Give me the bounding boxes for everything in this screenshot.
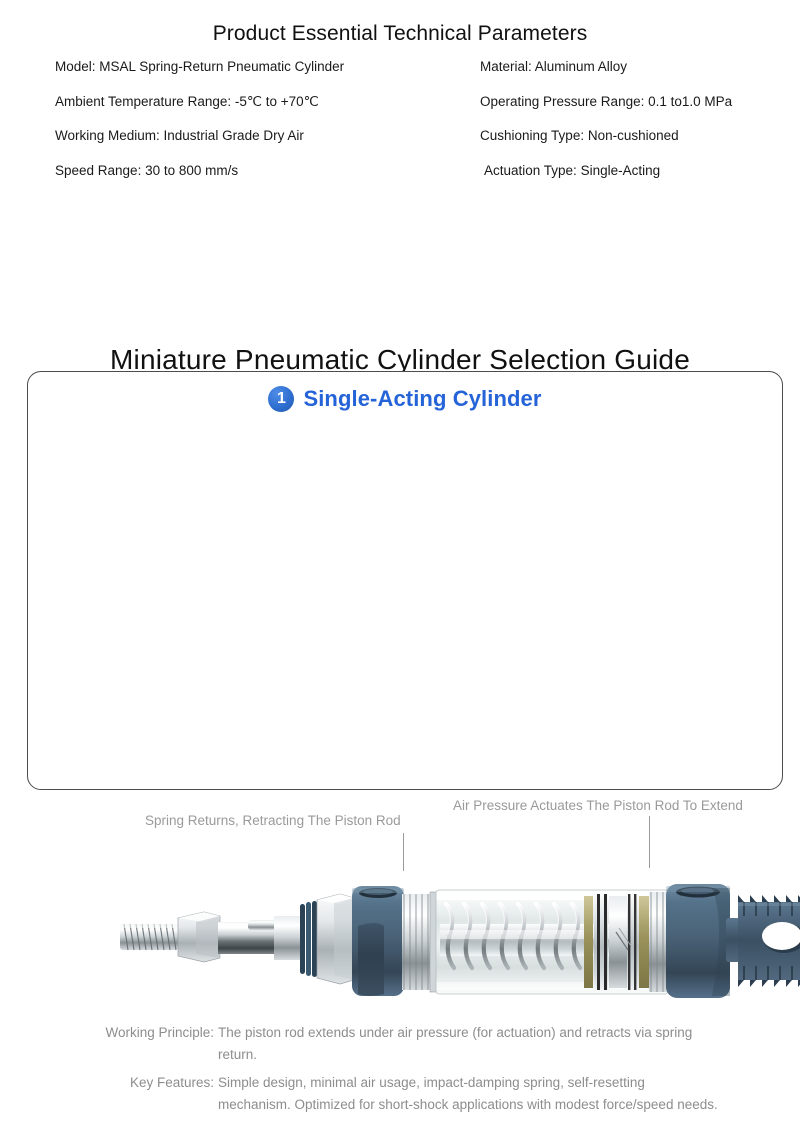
callout-label-spring-return: Spring Returns, Retracting The Piston Ro… <box>145 814 401 828</box>
description-row-key-features: Key Features: Simple design, minimal air… <box>28 1072 784 1116</box>
description-block: Working Principle: The piston rod extend… <box>28 1022 784 1122</box>
rear-threaded-ring-part <box>649 892 668 992</box>
leader-line-right-icon <box>649 816 650 868</box>
o-ring-stack-part <box>300 901 317 977</box>
spec-item-pressure-range: Operating Pressure Range: 0.1 to1.0 MPa <box>480 95 795 109</box>
callout-label-air-pressure: Air Pressure Actuates The Piston Rod To … <box>453 799 743 813</box>
front-hex-collar-part <box>317 894 354 984</box>
spec-column-left: Model: MSAL Spring-Return Pneumatic Cyli… <box>55 60 475 198</box>
spec-item-working-medium: Working Medium: Industrial Grade Dry Air <box>55 129 475 143</box>
front-threaded-ring-part <box>402 892 438 992</box>
spec-item-temperature: Ambient Temperature Range: -5℃ to +70℃ <box>55 95 475 109</box>
spec-column-right: Material: Aluminum Alloy Operating Press… <box>480 60 795 198</box>
piston-rod-part <box>218 916 302 960</box>
spec-item-model: Model: MSAL Spring-Return Pneumatic Cyli… <box>55 60 475 74</box>
cylinder-cutaway-illustration <box>108 866 800 1021</box>
cylinder-guide-card: 1 Single-Acting Cylinder Spring Returns,… <box>27 371 783 790</box>
rear-threaded-mount-part <box>726 895 800 987</box>
front-end-cap-part <box>352 886 404 996</box>
card-heading: 1 Single-Acting Cylinder <box>28 386 782 412</box>
spec-item-cushioning-type: Cushioning Type: Non-cushioned <box>480 129 795 143</box>
key-features-text: Simple design, minimal air usage, impact… <box>218 1072 718 1116</box>
spec-item-actuation-type: Actuation Type: Single-Acting <box>480 164 795 178</box>
technical-parameters-section: Product Essential Technical Parameters M… <box>0 0 800 300</box>
working-principle-text: The piston rod extends under air pressur… <box>218 1022 718 1066</box>
rear-end-cap-part <box>666 884 730 998</box>
spec-item-material: Material: Aluminum Alloy <box>480 60 795 74</box>
working-principle-label: Working Principle: <box>28 1022 218 1044</box>
transparent-barrel-part <box>436 890 668 994</box>
card-heading-label: Single-Acting Cylinder <box>303 386 541 412</box>
page-title: Product Essential Technical Parameters <box>0 22 800 46</box>
key-features-label: Key Features: <box>28 1072 218 1094</box>
spec-item-speed-range: Speed Range: 30 to 800 mm/s <box>55 164 475 178</box>
step-number-badge: 1 <box>268 386 294 412</box>
hex-nut-part <box>178 912 220 962</box>
threaded-rod-tip-part <box>120 924 178 950</box>
description-row-working-principle: Working Principle: The piston rod extend… <box>28 1022 784 1066</box>
